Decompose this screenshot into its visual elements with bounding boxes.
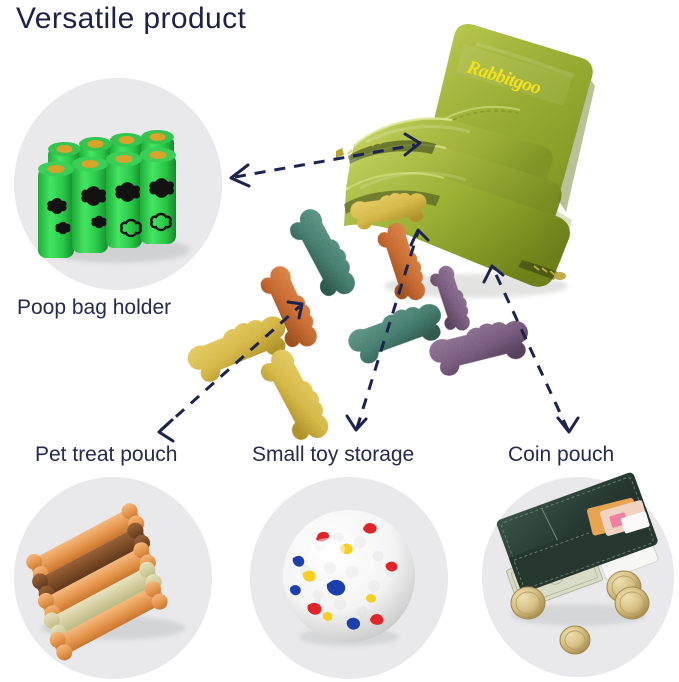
arrow-line-pet-treat-pouch <box>161 306 300 430</box>
feature-circle-pet-treat-pouch <box>14 477 212 679</box>
treat-bone-yellow-1 <box>182 309 294 388</box>
feature-circle-small-toy-storage <box>250 477 448 679</box>
treat-bone-teal-2 <box>344 297 449 368</box>
caption-poop-bag-holder: Poop bag holder <box>17 296 171 320</box>
treat-bone-orange-1 <box>256 262 324 355</box>
treat-bone-purple-2 <box>426 314 534 379</box>
arrowhead-small-toy-down <box>347 416 366 430</box>
feature-circle-coin-pouch <box>482 477 674 677</box>
caption-coin-pouch: Coin pouch <box>508 443 614 467</box>
zipper-pull <box>336 148 344 158</box>
feature-circle-poop-bag-holder <box>14 78 222 290</box>
product-pouch: Rabbitgoo <box>336 14 600 302</box>
caption-pet-treat-pouch: Pet treat pouch <box>35 443 177 467</box>
treat-bone-yellow-2 <box>255 344 336 449</box>
page-title: Versatile product <box>16 2 246 36</box>
product-infographic: Versatile product <box>0 0 679 682</box>
arrowhead-poop-bag-left <box>231 165 249 186</box>
caption-small-toy-storage: Small toy storage <box>252 443 414 467</box>
arrowhead-coin-down <box>558 418 578 432</box>
arrowhead-pet-treat-down <box>159 420 173 441</box>
arrowhead-pet-treat-up <box>288 302 302 318</box>
